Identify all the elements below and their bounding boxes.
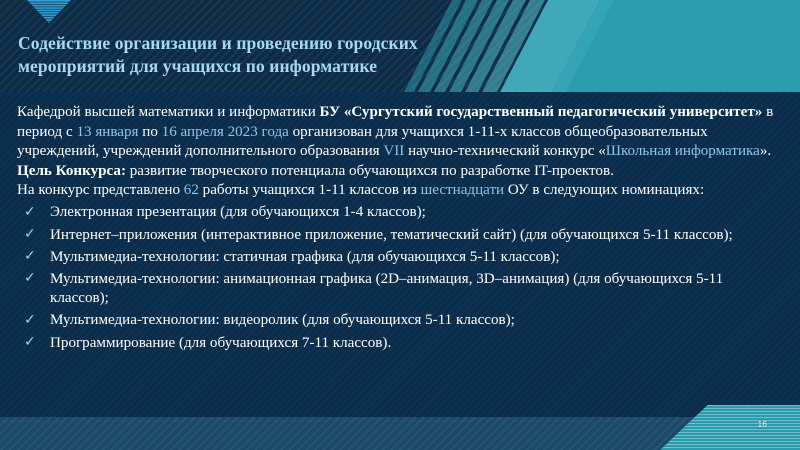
- list-item-label: Электронная презентация (для обучающихся…: [50, 204, 426, 220]
- check-icon: ✓: [24, 269, 36, 289]
- nominations-list: ✓ Электронная презентация (для обучающих…: [17, 203, 783, 353]
- p1-university-bold: БУ «Сургутский государственный педагогич…: [320, 104, 763, 120]
- check-icon: ✓: [24, 247, 36, 267]
- check-icon: ✓: [24, 225, 36, 245]
- list-item: ✓ Мультимедиа-технологии: видеоролик (дл…: [17, 311, 783, 331]
- p3-schools-count: шестнадцати: [421, 182, 505, 198]
- p1-contest-name: Школьная информатика: [606, 143, 760, 159]
- p3-works-count: 62: [184, 182, 199, 198]
- check-icon: ✓: [24, 311, 36, 331]
- p1-edition-number: VII: [383, 143, 404, 159]
- goal-label: Цель Конкурса:: [17, 163, 126, 179]
- triangle-logo-icon: [27, 0, 71, 23]
- paragraph-competition-intro: Кафедрой высшей математики и информатики…: [17, 103, 783, 162]
- p3-seg3: работы учащихся 1-11 классов из: [199, 182, 421, 198]
- list-item: ✓ Мультимедиа-технологии: статичная граф…: [17, 248, 783, 268]
- slide-header: Содействие организации и проведению горо…: [0, 0, 800, 92]
- list-item: ✓ Интернет–приложения (интерактивное при…: [17, 226, 783, 246]
- p1-date-start: 13 января: [76, 124, 138, 140]
- goal-text: развитие творческого потенциала обучающи…: [126, 163, 614, 179]
- list-item-label: Мультимедиа-технологии: статичная график…: [50, 249, 560, 265]
- presentation-slide: Содействие организации и проведению горо…: [0, 0, 800, 450]
- paragraph-contest-goal: Цель Конкурса: развитие творческого поте…: [17, 162, 783, 182]
- p1-seg9: научно-технический конкурс «: [404, 143, 605, 159]
- list-item-label: Интернет–приложения (интерактивное прило…: [50, 227, 733, 243]
- list-item-label: Мультимедиа-технологии: видеоролик (для …: [50, 312, 515, 328]
- p1-seg1: Кафедрой высшей математики и информатики: [17, 104, 320, 120]
- p1-date-end: 16 апреля 2023 года: [162, 124, 289, 140]
- list-item-label: Мультимедиа-технологии: анимационная гра…: [50, 271, 723, 307]
- p3-seg1: На конкурс представлено: [17, 182, 184, 198]
- list-item: ✓ Мультимедиа-технологии: анимационная г…: [17, 270, 783, 309]
- paragraph-submissions: На конкурс представлено 62 работы учащих…: [17, 181, 783, 201]
- slide-title-line-1: Содействие организации и проведению горо…: [18, 32, 558, 55]
- p1-seg11: ».: [760, 143, 771, 159]
- footer-corner-decoration: [660, 405, 800, 450]
- list-item: ✓ Программирование (для обучающихся 7-11…: [17, 334, 783, 354]
- slide-content: Кафедрой высшей математики и информатики…: [17, 103, 783, 353]
- list-item-label: Программирование (для обучающихся 7-11 к…: [50, 335, 391, 351]
- list-item: ✓ Электронная презентация (для обучающих…: [17, 203, 783, 223]
- slide-title: Содействие организации и проведению горо…: [18, 32, 558, 78]
- check-icon: ✓: [24, 333, 36, 353]
- p1-seg5: по: [138, 124, 161, 140]
- slide-title-line-2: мероприятий для учащихся по информатике: [18, 55, 558, 78]
- check-icon: ✓: [24, 203, 36, 223]
- corner-stripes: [660, 405, 800, 450]
- page-number: 16: [758, 419, 767, 429]
- p3-seg5: ОУ в следующих номинациях:: [504, 182, 704, 198]
